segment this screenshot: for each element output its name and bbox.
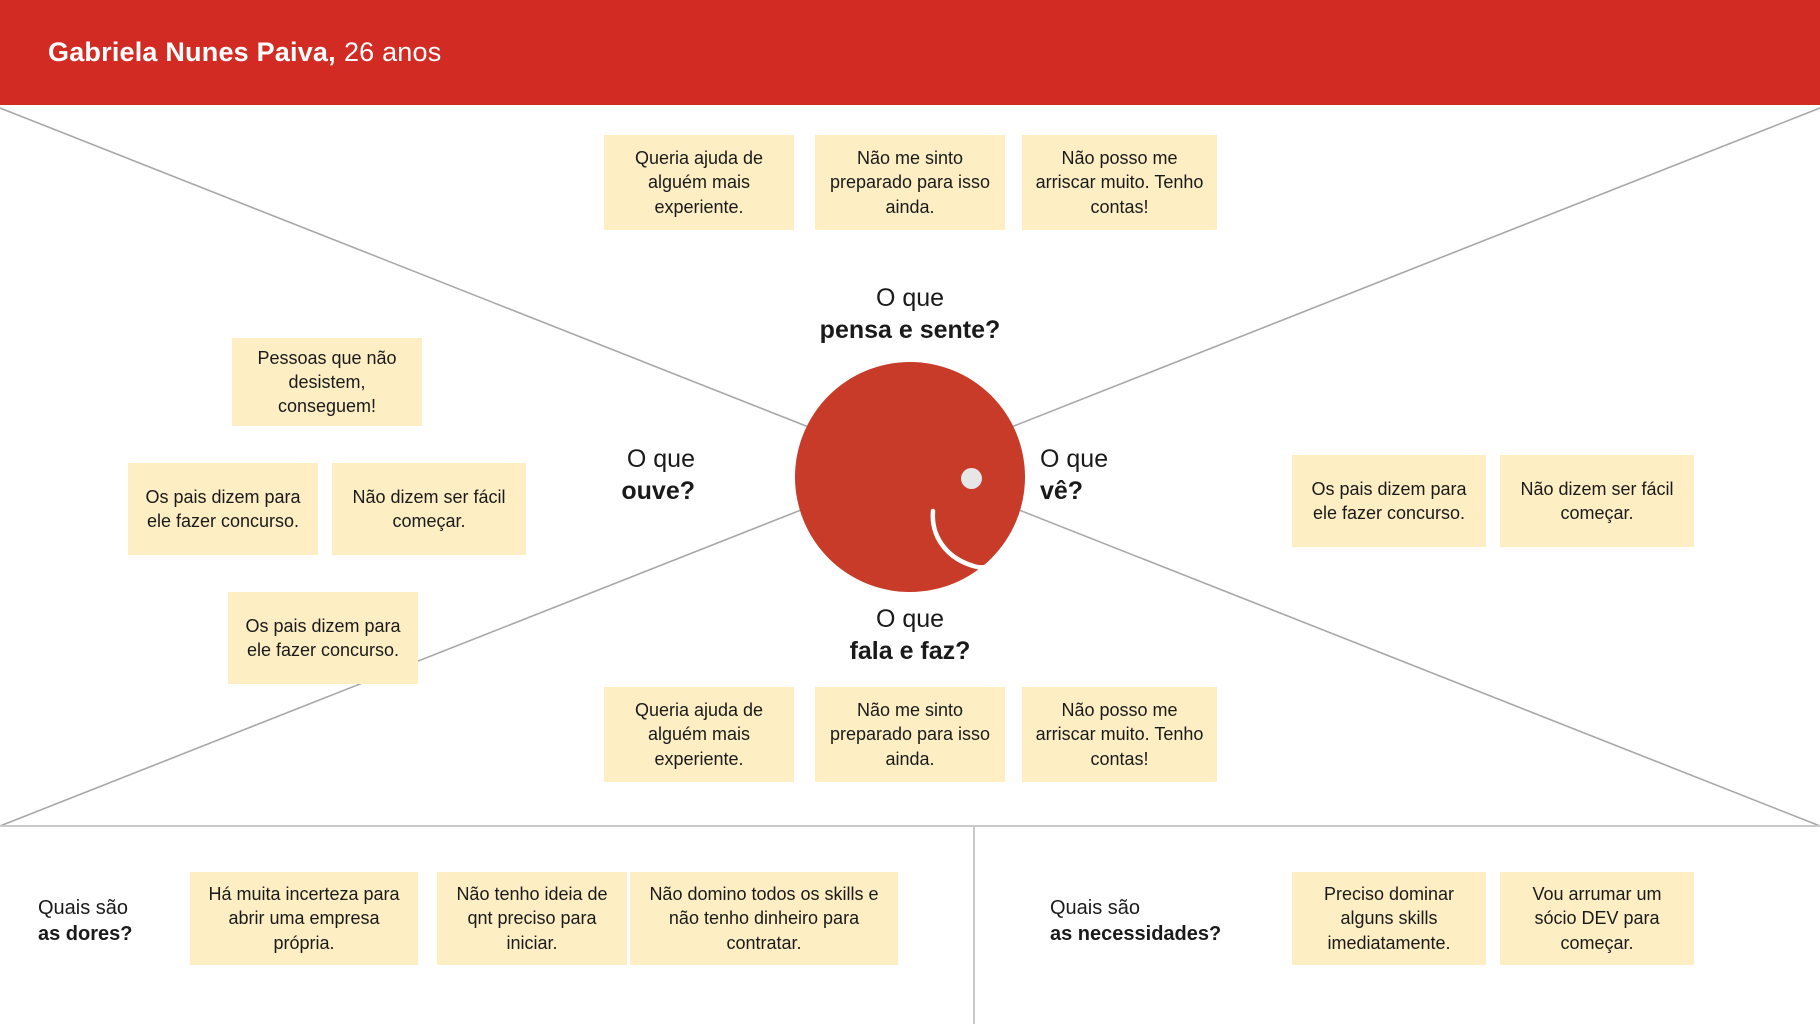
note-card[interactable]: Queria ajuda de alguém mais experiente. xyxy=(604,687,794,782)
quadrant-label-think-feel: O que pensa e sente? xyxy=(820,283,1001,346)
face-profile-icon xyxy=(795,362,1025,592)
pains-label: Quais são as dores? xyxy=(38,895,132,947)
note-card[interactable]: Não posso me arriscar muito. Tenho conta… xyxy=(1022,687,1217,782)
note-card[interactable]: Os pais dizem para ele fazer concurso. xyxy=(1292,455,1486,547)
note-card[interactable]: Pessoas que não desistem, conseguem! xyxy=(232,338,422,426)
note-card[interactable]: Há muita incerteza para abrir uma empres… xyxy=(190,872,418,965)
persona-age: 26 anos xyxy=(344,37,441,68)
note-card[interactable]: Não me sinto preparado para isso ainda. xyxy=(815,135,1005,230)
empathy-map-canvas: Gabriela Nunes Paiva, 26 anos O que pens… xyxy=(0,0,1820,1024)
nose-curve-icon xyxy=(925,507,1005,577)
persona-name: Gabriela Nunes Paiva, xyxy=(48,37,336,68)
page-title: Gabriela Nunes Paiva, 26 anos xyxy=(48,0,441,105)
note-card[interactable]: Não domino todos os skills e não tenho d… xyxy=(630,872,898,965)
quadrant-label-hear: O que ouve? xyxy=(621,444,695,507)
needs-label: Quais são as necessidades? xyxy=(1050,895,1221,947)
header-bar: Gabriela Nunes Paiva, 26 anos xyxy=(0,0,1820,105)
quadrant-label-say-do: O que fala e faz? xyxy=(850,604,971,667)
note-card[interactable]: Não dizem ser fácil começar. xyxy=(1500,455,1694,547)
note-card[interactable]: Queria ajuda de alguém mais experiente. xyxy=(604,135,794,230)
note-card[interactable]: Os pais dizem para ele fazer concurso. xyxy=(128,463,318,555)
note-card[interactable]: Não tenho ideia de qnt preciso para inic… xyxy=(437,872,627,965)
note-card[interactable]: Vou arrumar um sócio DEV para começar. xyxy=(1500,872,1694,965)
note-card[interactable]: Os pais dizem para ele fazer concurso. xyxy=(228,592,418,684)
note-card[interactable]: Preciso dominar alguns skills imediatame… xyxy=(1292,872,1486,965)
note-card[interactable]: Não me sinto preparado para isso ainda. xyxy=(815,687,1005,782)
note-card[interactable]: Não posso me arriscar muito. Tenho conta… xyxy=(1022,135,1217,230)
note-card[interactable]: Não dizem ser fácil começar. xyxy=(332,463,526,555)
eye-dot-icon xyxy=(961,468,982,489)
quadrant-label-see: O que vê? xyxy=(1040,444,1108,507)
